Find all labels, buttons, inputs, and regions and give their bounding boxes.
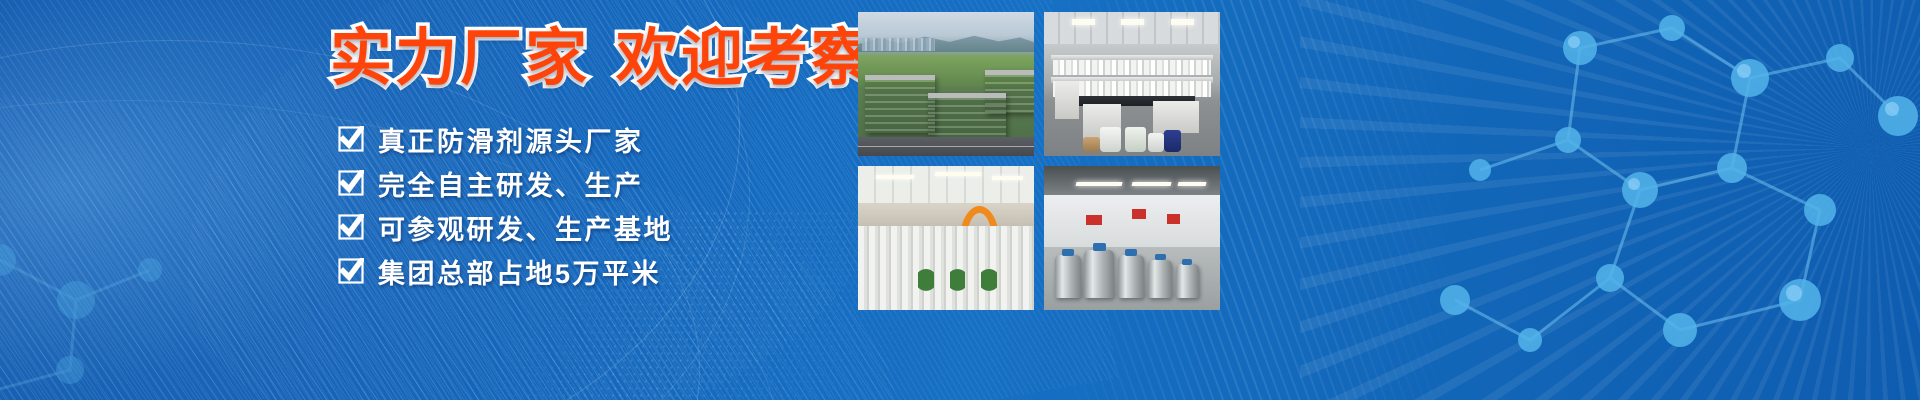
page-title: 实力厂家欢迎考察 [330,28,876,90]
list-item-label: 集团总部占地5万平米 [378,252,661,291]
list-item: 完全自主研发、生产 [338,162,673,204]
feature-list: 真正防滑剂源头厂家 完全自主研发、生产 可参观研发、生产基地 [338,118,673,294]
headline-part-1: 实力厂家 [330,24,590,93]
headline-part-2: 欢迎考察 [616,24,876,93]
list-item: 真正防滑剂源头厂家 [338,118,673,160]
promo-banner: 实力厂家欢迎考察 真正防滑剂源头厂家 完全自主研发、生产 [0,0,1920,400]
molecule-graphic-left [0,0,280,400]
check-box-icon [338,214,364,240]
list-item-label: 可参观研发、生产基地 [378,208,673,247]
check-box-icon [338,126,364,152]
list-item-label: 完全自主研发、生产 [378,164,644,203]
laboratory-photo: 研发实验室 [1044,12,1220,156]
aerial-campus-photo: 集团园区航拍 [858,12,1034,156]
list-item-label: 真正防滑剂源头厂家 [378,120,644,159]
production-line-photo: 生产车间反应釜 [1044,166,1220,310]
molecule-graphic [1280,0,1920,400]
check-box-icon [338,170,364,196]
list-item: 集团总部占地5万平米 [338,250,673,292]
staff-group-photo: 员工集体照 [858,166,1034,310]
list-item: 可参观研发、生产基地 [338,206,673,248]
photo-grid: 集团园区航拍 研发实验室 [858,12,1228,312]
check-box-icon [338,258,364,284]
